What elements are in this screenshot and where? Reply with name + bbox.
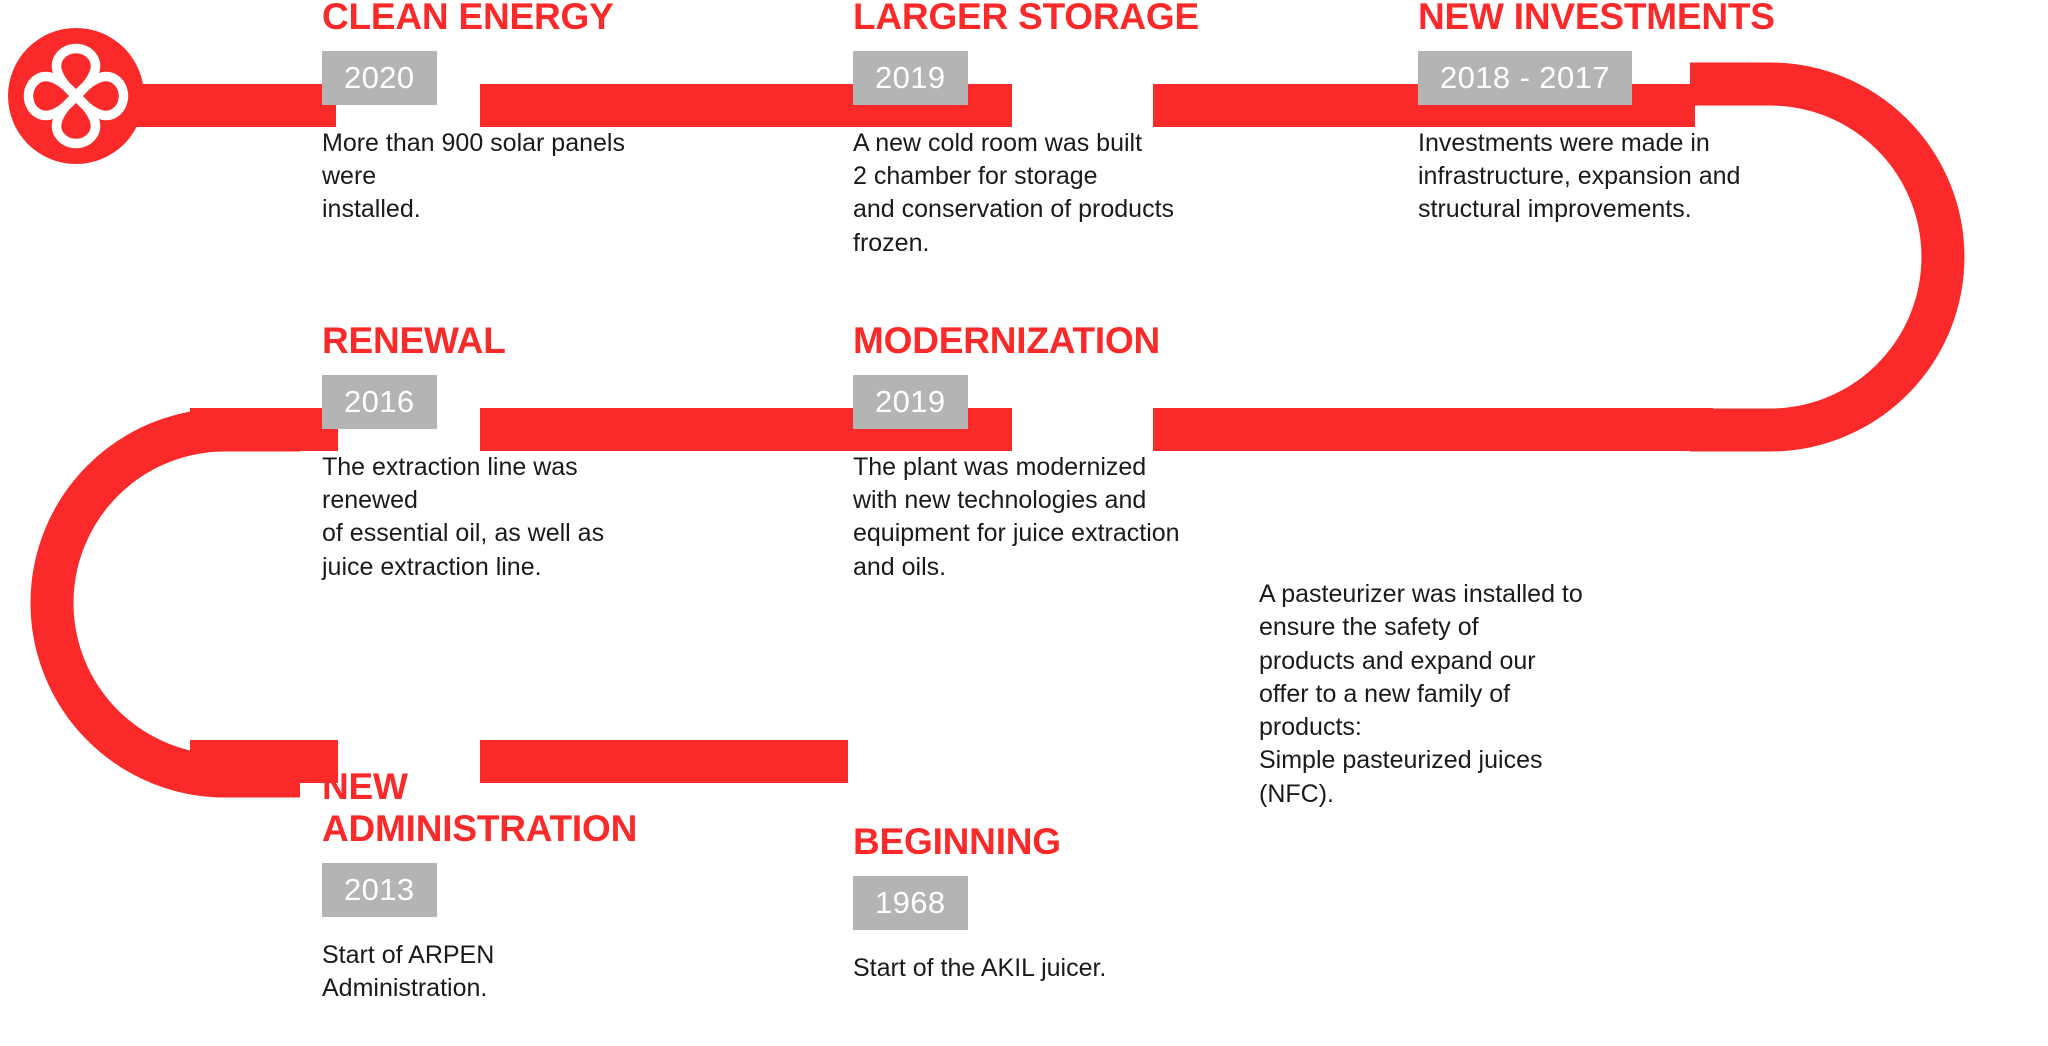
milestone-title: NEW ADMINISTRATION xyxy=(322,766,722,850)
milestone-year-row: 2016 xyxy=(322,375,662,429)
milestone-title: CLEAN ENERGY xyxy=(322,0,652,38)
milestone-year-chip[interactable]: 2018 - 2017 xyxy=(1418,51,1632,105)
milestone-year-row: 1968 xyxy=(853,876,1223,930)
milestone-new-administration[interactable]: NEW ADMINISTRATION 2013 Start of ARPEN A… xyxy=(322,766,722,1005)
milestone-beginning[interactable]: BEGINNING 1968 Start of the AKIL juicer. xyxy=(853,821,1223,985)
milestone-title: NEW INVESTMENTS xyxy=(1418,0,1818,38)
milestone-clean-energy[interactable]: CLEAN ENERGY 2020 More than 900 solar pa… xyxy=(322,0,652,227)
track-segment-r2-a xyxy=(190,408,338,451)
milestone-description: The plant was modernized with new techno… xyxy=(853,451,1233,584)
milestone-description: Start of the AKIL juicer. xyxy=(853,952,1223,985)
milestone-year-chip[interactable]: 2019 xyxy=(853,51,968,105)
milestone-year-chip[interactable]: 1968 xyxy=(853,876,968,930)
track-segment-r2-c xyxy=(1153,408,1713,451)
milestone-description: Start of ARPEN Administration. xyxy=(322,939,722,1006)
milestone-year-row: 2019 xyxy=(853,375,1233,429)
brand-logo[interactable] xyxy=(8,28,144,164)
milestone-modernization[interactable]: MODERNIZATION 2019 The plant was moderni… xyxy=(853,320,1233,584)
pasteurizer-note: A pasteurizer was installed to ensure th… xyxy=(1259,578,1639,811)
milestone-renewal[interactable]: RENEWAL 2016 The extraction line was ren… xyxy=(322,320,662,584)
milestone-description: Investments were made in infrastructure,… xyxy=(1418,127,1818,227)
milestone-year-row: 2013 xyxy=(322,863,722,917)
milestone-title: BEGINNING xyxy=(853,821,1223,863)
milestone-new-investments[interactable]: NEW INVESTMENTS 2018 - 2017 Investments … xyxy=(1418,0,1818,227)
milestone-description: A new cold room was built 2 chamber for … xyxy=(853,127,1223,260)
milestone-description: The extraction line was renewed of essen… xyxy=(322,451,662,584)
milestone-title: RENEWAL xyxy=(322,320,662,362)
timeline-infographic: CLEAN ENERGY 2020 More than 900 solar pa… xyxy=(0,0,2048,1046)
milestone-year-row: 2019 xyxy=(853,51,1223,105)
milestone-title: MODERNIZATION xyxy=(853,320,1233,362)
milestone-description: More than 900 solar panels were installe… xyxy=(322,127,652,227)
milestone-year-row: 2018 - 2017 xyxy=(1418,51,1818,105)
milestone-larger-storage[interactable]: LARGER STORAGE 2019 A new cold room was … xyxy=(853,0,1223,260)
track-segment-r3-a xyxy=(190,740,338,783)
milestone-year-row: 2020 xyxy=(322,51,652,105)
track-curve-left xyxy=(52,430,300,776)
milestone-year-chip[interactable]: 2013 xyxy=(322,863,437,917)
milestone-year-chip[interactable]: 2020 xyxy=(322,51,437,105)
track-segment-r1-a xyxy=(118,84,336,127)
milestone-title: LARGER STORAGE xyxy=(853,0,1223,38)
milestone-year-chip[interactable]: 2019 xyxy=(853,375,968,429)
milestone-year-chip[interactable]: 2016 xyxy=(322,375,437,429)
